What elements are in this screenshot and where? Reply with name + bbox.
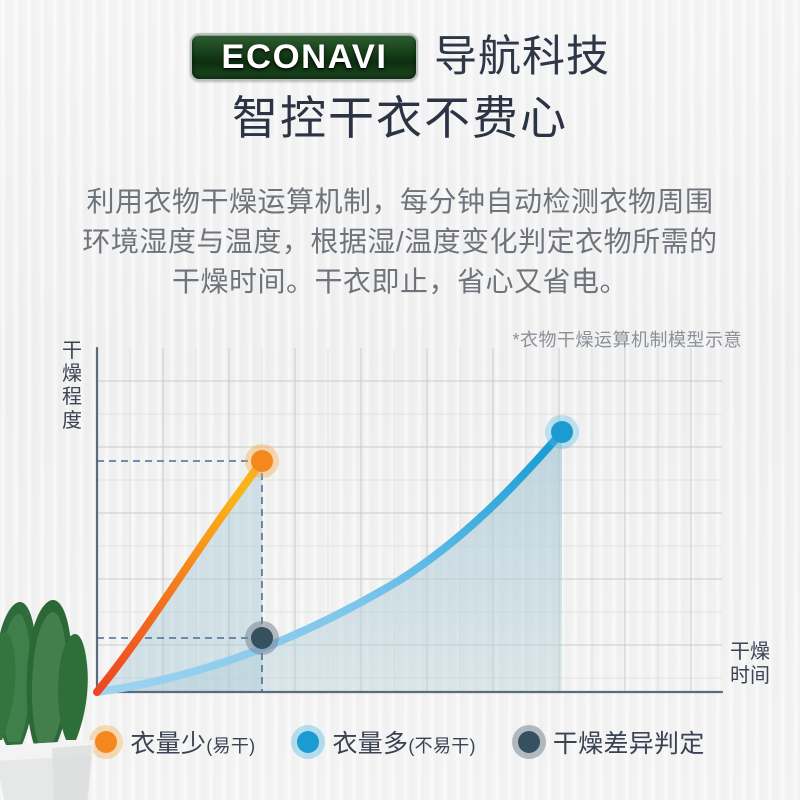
econavi-logo-text: ECONAVI [221, 40, 387, 74]
legend-dot-icon-dark [518, 731, 540, 753]
area-fill-orange [97, 461, 262, 692]
legend-label-sub-0: (易干) [206, 736, 255, 756]
plant-pot-icon [0, 740, 94, 800]
y-axis-label: 干 燥 程 度 [58, 340, 86, 433]
legend-label-main-1: 衣量多 [332, 730, 408, 758]
body-copy-line-3: 干燥时间。干衣即止，省心又省电。 [40, 262, 760, 302]
promo-page: ECONAVI 导航科技 智控干衣不费心 利用衣物干燥运算机制，每分钟自动检测衣… [0, 0, 800, 800]
x-axis-label-line-2: 时间 [730, 664, 794, 688]
econavi-logo-badge: ECONAVI [190, 33, 418, 81]
cactus-plant-decoration [0, 540, 110, 800]
x-axis-label: 干燥 时间 [730, 640, 794, 689]
series-line-blue [97, 432, 562, 692]
legend-dot-icon-blue [297, 731, 319, 753]
legend-label-sub-1: (不易干) [408, 736, 476, 756]
headline-text: 智控干衣不费心 [0, 94, 800, 142]
legend-item-small-load: 衣量少(易干) [95, 724, 255, 760]
legend-label-main-0: 衣量少 [130, 730, 206, 758]
brand-suffix-text: 导航科技 [434, 36, 610, 79]
chart-legend: 衣量少(易干) 衣量多(不易干) 干燥差异判定 [0, 724, 800, 760]
legend-label-difference: 干燥差异判定 [553, 724, 705, 760]
body-copy-line-2: 环境湿度与温度，根据湿/温度变化判定衣物所需的 [40, 222, 760, 262]
y-axis-label-char-2: 程 [58, 386, 86, 409]
cactus-leaves-icon [0, 600, 88, 750]
body-copy-line-1: 利用衣物干燥运算机制，每分钟自动检测衣物周围 [40, 182, 760, 222]
legend-label-small-load: 衣量少(易干) [130, 724, 255, 760]
marker-halo-blue [545, 415, 579, 449]
legend-label-large-load: 衣量多(不易干) [332, 724, 475, 760]
series-line-orange [97, 461, 262, 692]
chart-axes [97, 348, 722, 692]
y-axis-label-char-1: 燥 [58, 363, 86, 386]
chart-markers [245, 415, 579, 655]
marker-endpoint-orange [251, 450, 273, 472]
legend-item-difference: 干燥差异判定 [518, 724, 705, 760]
body-copy: 利用衣物干燥运算机制，每分钟自动检测衣物周围 环境湿度与温度，根据湿/温度变化判… [40, 182, 760, 301]
marker-halo-orange [245, 444, 279, 478]
y-axis-label-char-3: 度 [58, 410, 86, 433]
header: ECONAVI 导航科技 智控干衣不费心 [0, 30, 800, 142]
y-axis-label-char-0: 干 [58, 340, 86, 363]
legend-label-main-2: 干燥差异判定 [553, 730, 705, 758]
title-row-primary: ECONAVI 导航科技 [0, 30, 800, 84]
chart-note: *衣物干燥运算机制模型示意 [0, 326, 742, 352]
marker-halo-difference [245, 621, 279, 655]
chart-guide-lines [97, 461, 262, 692]
chart-gridlines-minor [97, 348, 722, 692]
marker-endpoint-blue [551, 421, 573, 443]
marker-difference-point [251, 627, 273, 649]
area-fill-blue [97, 432, 562, 692]
x-axis-label-line-1: 干燥 [730, 640, 794, 664]
legend-item-large-load: 衣量多(不易干) [297, 724, 475, 760]
chart-gridlines-major [97, 348, 722, 692]
chart-area-fills [97, 432, 562, 692]
